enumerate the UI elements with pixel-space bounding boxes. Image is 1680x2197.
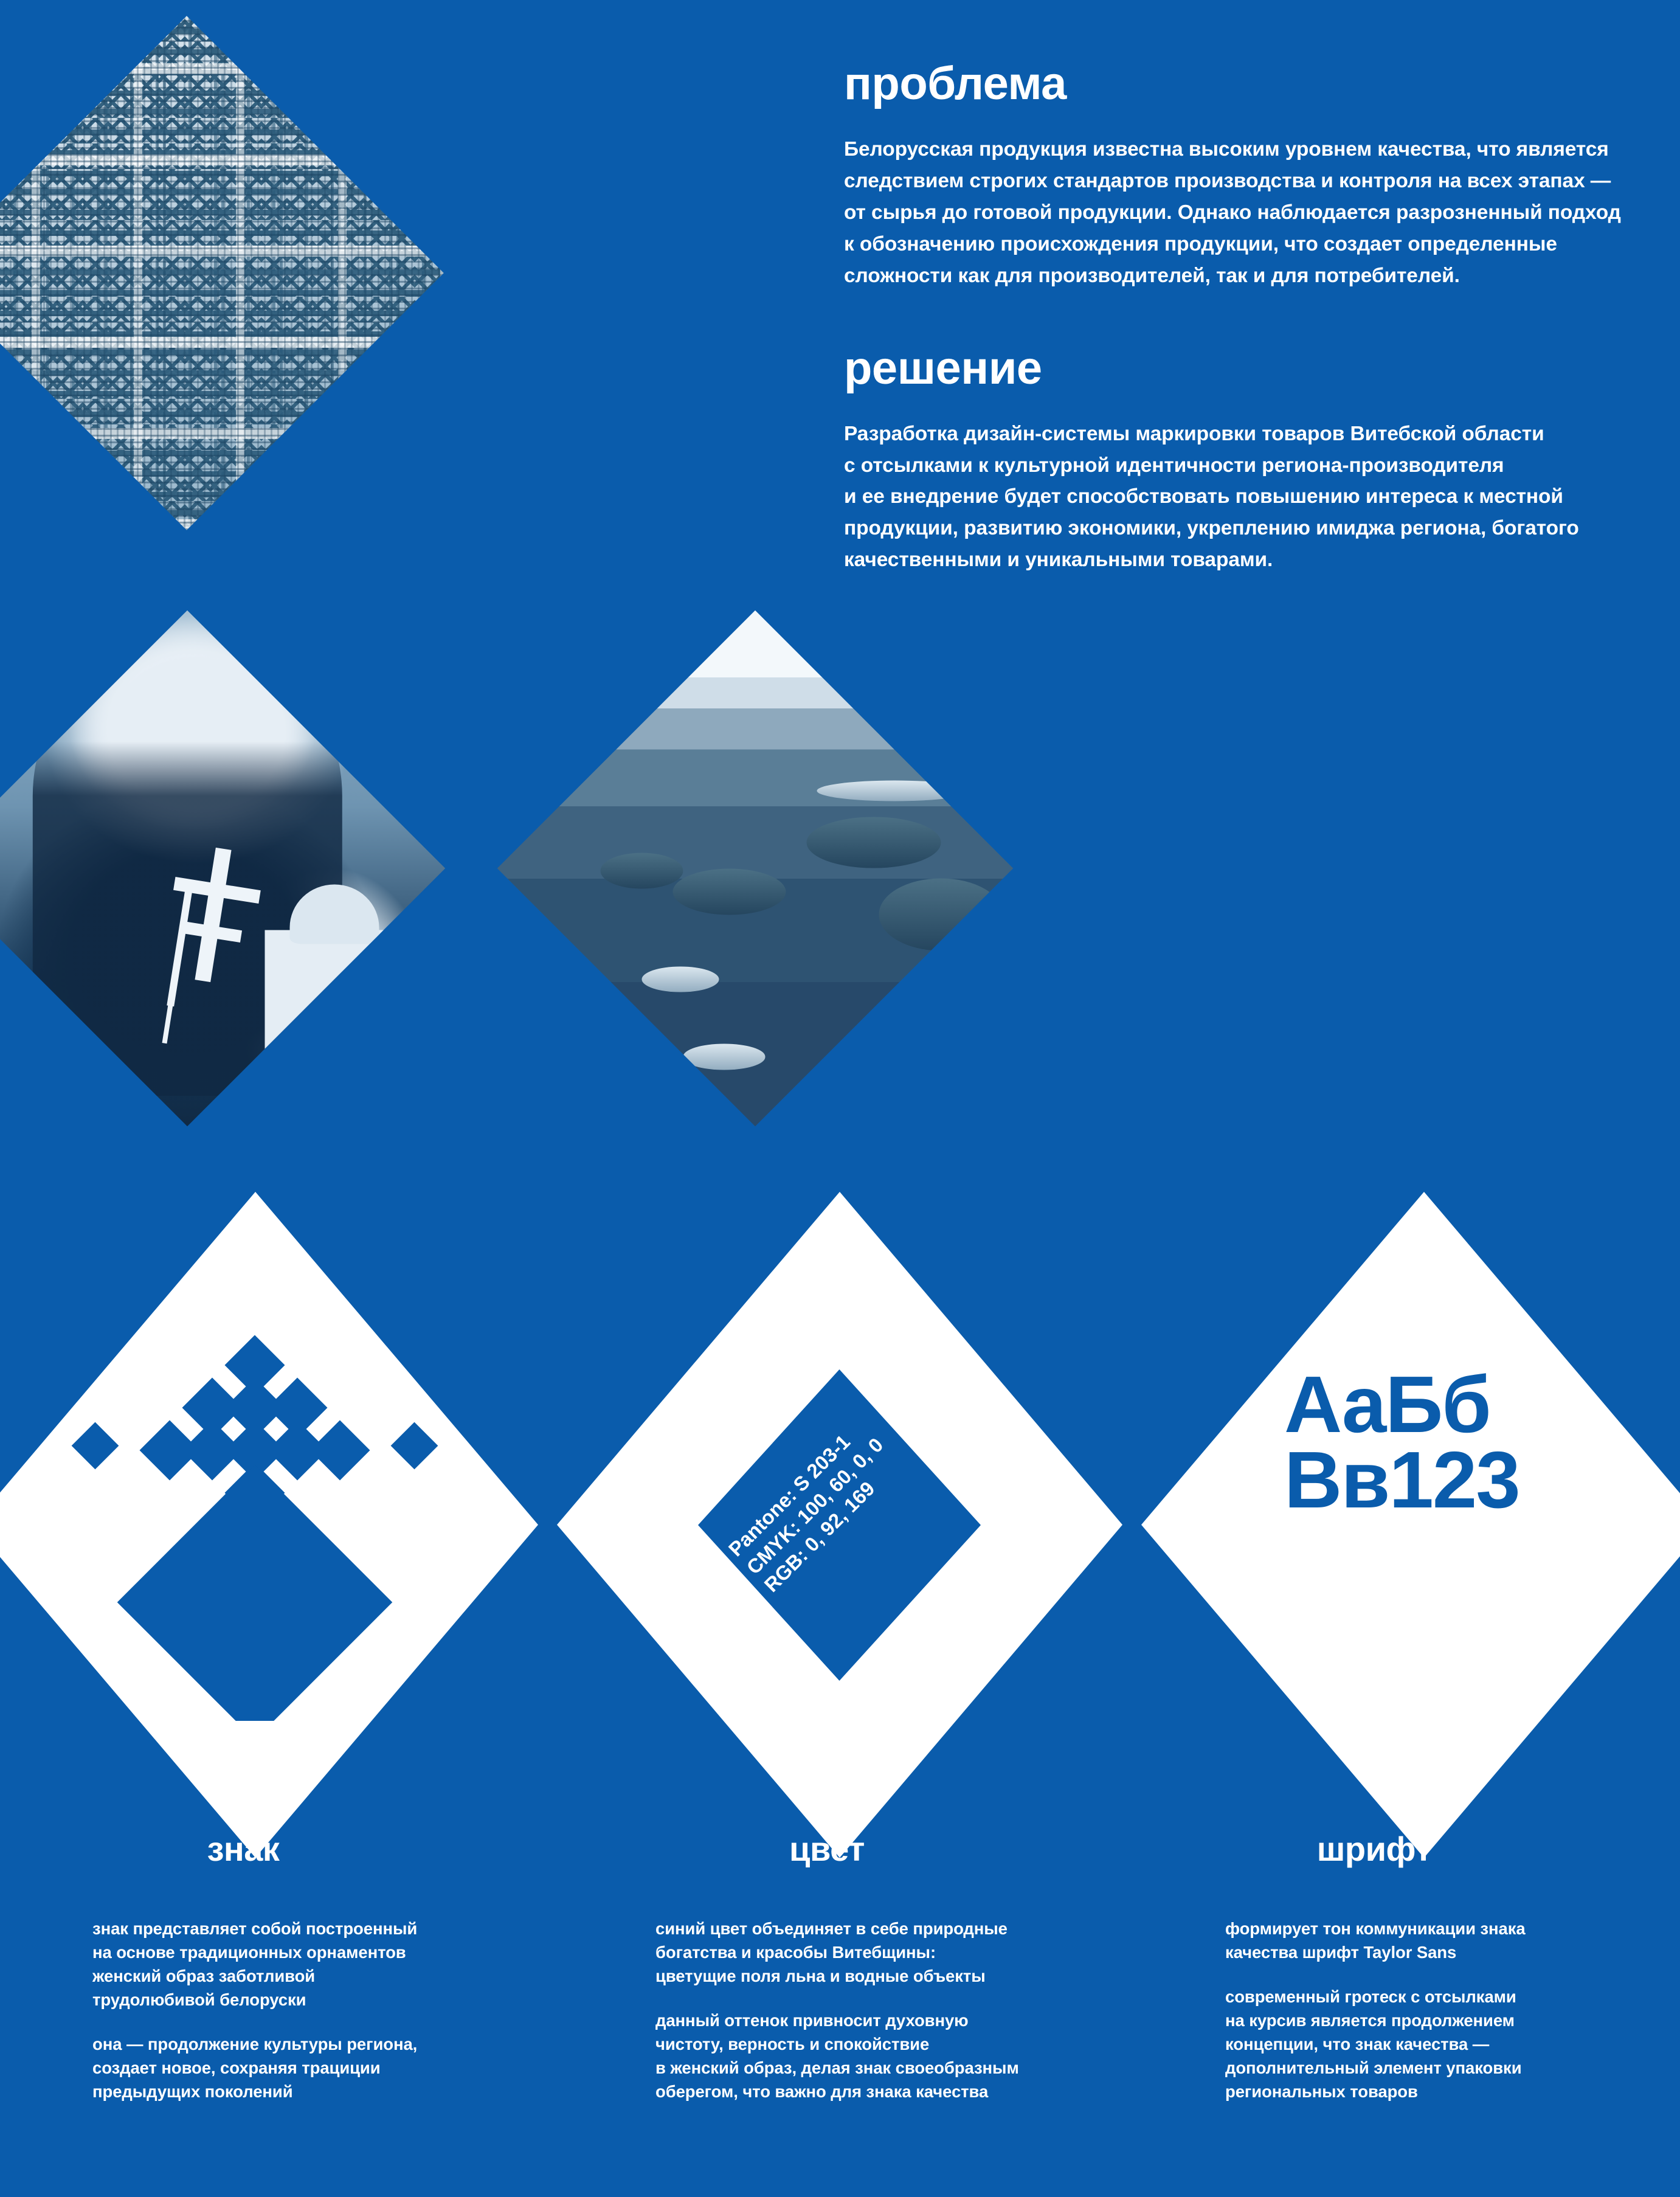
- caption-line: формирует тон коммуникации знака: [1225, 1917, 1675, 1940]
- caption-line: данный оттенок привносит духовную: [655, 2008, 1105, 2032]
- caption-title-typeface: шрифт: [1216, 1832, 1532, 1866]
- caption-body-color: синий цвет объединяет в себе природные б…: [655, 1917, 1105, 2103]
- caption-paragraph-gap: [655, 1988, 1105, 2008]
- solution-body-line: качественными и уникальными товарами.: [844, 544, 1628, 576]
- poster-canvas: проблема Белорусская продукция известна …: [0, 0, 1680, 2197]
- textile-photo-canvas: [0, 16, 444, 530]
- caption-line: концепции, что знак качества —: [1225, 2032, 1675, 2056]
- problem-body-line: Белорусская продукция известна высоким у…: [844, 134, 1628, 165]
- lake-sandbank: [683, 1044, 766, 1070]
- intro-text-column: проблема Белорусская продукция известна …: [844, 61, 1628, 629]
- caption-line: современный гротеск с отсылками: [1225, 1985, 1675, 2008]
- type-specimen: АаБб Вв123: [1284, 1367, 1576, 1518]
- saint-photo-canvas: [0, 611, 445, 1127]
- lake-island: [672, 868, 786, 915]
- caption-body-typeface: формирует тон коммуникации знака качеств…: [1225, 1917, 1675, 2103]
- solution-heading: решение: [844, 345, 1628, 392]
- caption-line: в женский образ, делая знак своеобразным: [655, 2056, 1105, 2080]
- textile-photo: [5, 91, 368, 455]
- solution-body-line: с отсылками к культурной идентичности ре…: [844, 450, 1628, 482]
- problem-body: Белорусская продукция известна высоким у…: [844, 134, 1628, 292]
- caption-line: дополнительный элемент упаковки: [1225, 2056, 1675, 2080]
- problem-body-line: сложности как для производителей, так и …: [844, 260, 1628, 292]
- photo-diamond-braslav-lakes: [497, 611, 1014, 1127]
- caption-line: предыдущих поколений: [92, 2080, 542, 2103]
- problem-body-line: к обозначению происхождения продукции, ч…: [844, 229, 1628, 260]
- solution-body-line: Разработка дизайн-системы маркировки тов…: [844, 418, 1628, 450]
- type-specimen-line-1: АаБб: [1284, 1367, 1576, 1442]
- photo-diamond-textile-ornament: [0, 16, 444, 530]
- caption-title-color: цвет: [669, 1832, 985, 1866]
- lake-shoreline: [817, 781, 972, 801]
- caption-line: создает новое, сохраняя трациции: [92, 2056, 542, 2080]
- solution-body: Разработка дизайн-системы маркировки тов…: [844, 418, 1628, 576]
- caption-body-mark: знак представляет собой построенный на о…: [92, 1917, 542, 2103]
- lake-sandbank: [641, 966, 719, 992]
- lake-island: [600, 853, 683, 889]
- textile-cross-stitch-grid: [0, 16, 444, 530]
- problem-heading: проблема: [844, 61, 1628, 107]
- caption-line: знак представляет собой построенный: [92, 1917, 542, 1940]
- quality-mark-logo: [63, 1326, 446, 1721]
- caption-line: она — продолжение культуры региона,: [92, 2032, 542, 2056]
- logo-diamond-grid: [72, 1335, 438, 1721]
- caption-line: синий цвет объединяет в себе природные: [655, 1917, 1105, 1940]
- caption-paragraph-gap: [1225, 1964, 1675, 1985]
- caption-line: трудолюбивой белоруски: [92, 1988, 542, 2012]
- diamond-panel-typeface: [1141, 1192, 1680, 1858]
- caption-line: качества шрифт Taylor Sans: [1225, 1940, 1675, 1964]
- saint-robe-figure: [32, 641, 342, 1095]
- lake-photo: [573, 686, 938, 1051]
- problem-body-line: от сырья до готовой продукции. Однако на…: [844, 197, 1628, 229]
- caption-line: на основе традиционных орнаментов: [92, 1940, 542, 1964]
- caption-title-mark: знак: [85, 1832, 401, 1866]
- lake-island: [807, 817, 941, 868]
- lake-island: [879, 879, 1003, 951]
- lake-photo-canvas: [497, 611, 1014, 1127]
- caption-line: на курсив является продолжением: [1225, 2008, 1675, 2032]
- caption-line: чистоту, верность и спокойствие: [655, 2032, 1105, 2056]
- solution-body-line: и ее внедрение будет способствовать повы…: [844, 481, 1628, 513]
- saint-photo: [5, 686, 370, 1051]
- caption-line: региональных товаров: [1225, 2080, 1675, 2103]
- caption-line: женский образ заботливой: [92, 1964, 542, 1988]
- caption-paragraph-gap: [92, 2012, 542, 2032]
- caption-line: богатства и красобы Витебщины:: [655, 1940, 1105, 1964]
- caption-line: цветущие поля льна и водные объекты: [655, 1964, 1105, 1988]
- photo-diamond-saint-euphrosyne: [0, 611, 445, 1127]
- type-specimen-line-2: Вв123: [1284, 1442, 1576, 1518]
- church-model-icon: [264, 930, 404, 1106]
- caption-line: оберегом, что важно для знака качества: [655, 2080, 1105, 2103]
- problem-body-line: следствием строгих стандартов производст…: [844, 165, 1628, 197]
- solution-body-line: продукции, развитию экономики, укреплени…: [844, 513, 1628, 544]
